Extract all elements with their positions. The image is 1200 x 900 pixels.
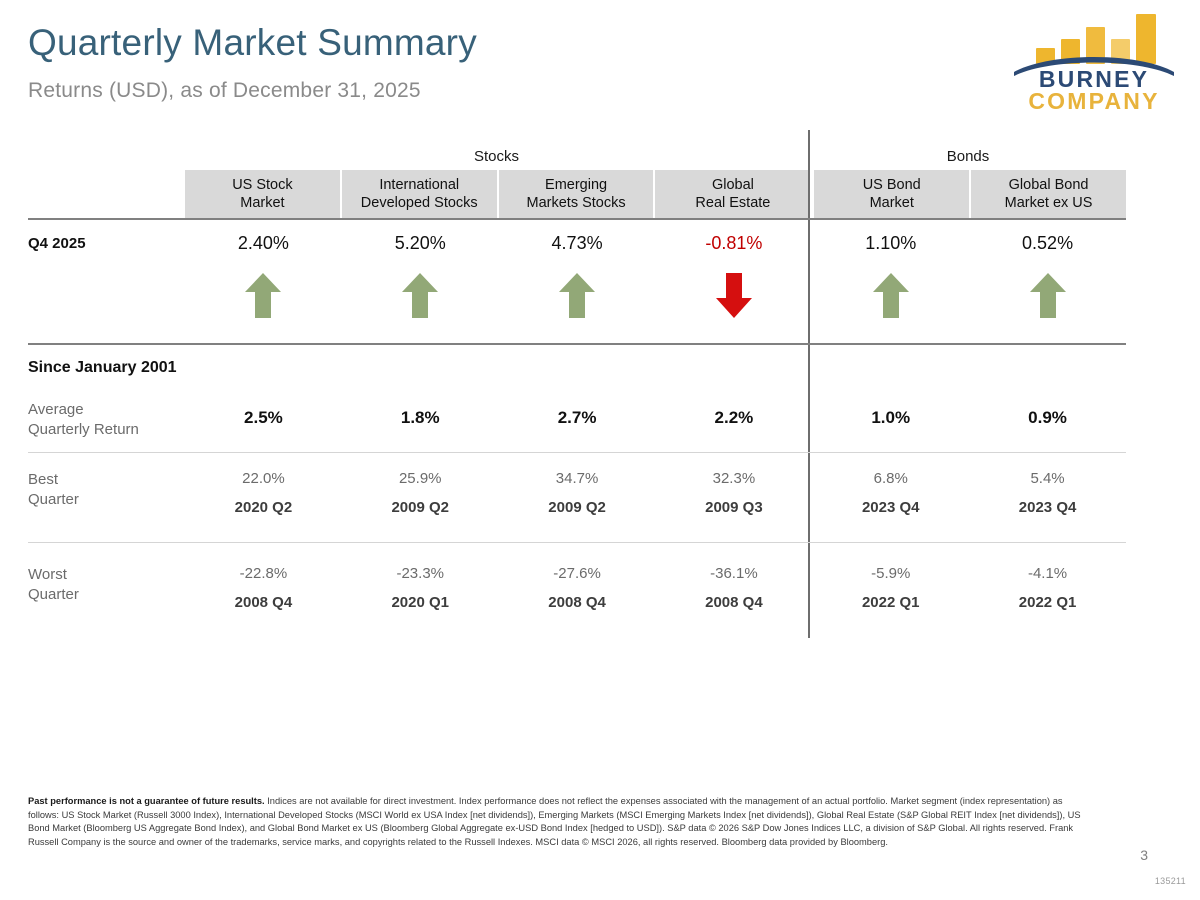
row-label-line-2: Quarterly Return [28,420,139,440]
table-cell: 1.8% [342,408,499,428]
column-header-emerging-markets-stocks: Emerging Markets Stocks [499,170,656,218]
column-header-us-stock-market: US Stock Market [185,170,342,218]
column-header-us-bond-market: US Bond Market [812,170,971,218]
arrow-up-icon [401,271,439,319]
row-label-line-2: Quarter [28,585,79,605]
header-line-1: US Bond [863,176,921,194]
column-header-global-real-estate: Global Real Estate [655,170,812,218]
q4-value-international-developed-stocks: 5.20% [395,233,446,254]
row-q4-2025: 2.40% 5.20% 4.73% -0.81% 1.10% [185,233,1126,319]
rule-under-header [28,218,1126,220]
market-summary-table: Stocks Bonds US Stock Market Internation… [0,130,1200,650]
table-cell: -4.1% 2022 Q1 [969,565,1126,611]
best-pct-global-real-estate: 32.3% [713,470,756,487]
group-label-stocks: Stocks [185,148,808,165]
row-label-line-2: Quarter [28,490,79,510]
best-quarter-global-bond-market-ex-us: 2023 Q4 [1019,499,1077,516]
best-pct-emerging-markets-stocks: 34.7% [556,470,599,487]
arrow-up-icon [244,271,282,319]
table-cell: 5.20% [342,233,499,319]
worst-pct-emerging-markets-stocks: -27.6% [553,565,601,582]
avg-value-emerging-markets-stocks: 2.7% [558,408,597,428]
arrow-up-icon [1029,271,1067,319]
header-line-2: Developed Stocks [361,194,478,212]
header-line-2: Market [870,194,914,212]
page-header: Quarterly Market Summary Returns (USD), … [0,0,1200,125]
table-cell: -36.1% 2008 Q4 [655,565,812,611]
avg-value-global-real-estate: 2.2% [715,408,754,428]
worst-quarter-us-stock-market: 2008 Q4 [235,594,293,611]
q4-value-emerging-markets-stocks: 4.73% [552,233,603,254]
worst-quarter-international-developed-stocks: 2020 Q1 [391,594,449,611]
q4-value-global-real-estate: -0.81% [705,233,762,254]
row-label-q4-2025: Q4 2025 [28,234,86,254]
row-label-line-1: Best [28,470,79,490]
best-pct-global-bond-market-ex-us: 5.4% [1030,470,1064,487]
row-label-line-1: Average [28,400,139,420]
best-pct-us-bond-market: 6.8% [874,470,908,487]
avg-value-us-stock-market: 2.5% [244,408,283,428]
table-cell: -22.8% 2008 Q4 [185,565,342,611]
table-cell: 25.9% 2009 Q2 [342,470,499,516]
avg-value-us-bond-market: 1.0% [871,408,910,428]
best-pct-us-stock-market: 22.0% [242,470,285,487]
table-cell: 0.9% [969,408,1126,428]
best-quarter-us-stock-market: 2020 Q2 [235,499,293,516]
header-line-1: US Stock [232,176,292,194]
best-quarter-international-developed-stocks: 2009 Q2 [391,499,449,516]
table-cell: 32.3% 2009 Q3 [655,470,812,516]
arrow-down-icon [715,271,753,319]
best-quarter-emerging-markets-stocks: 2009 Q2 [548,499,606,516]
worst-quarter-us-bond-market: 2022 Q1 [862,594,920,611]
column-header-international-developed-stocks: International Developed Stocks [342,170,499,218]
arrow-up-icon [558,271,596,319]
worst-quarter-global-real-estate: 2008 Q4 [705,594,763,611]
row-label-line-1: Worst [28,565,79,585]
q4-value-us-stock-market: 2.40% [238,233,289,254]
table-cell: -23.3% 2020 Q1 [342,565,499,611]
row-label-best-quarter: Best Quarter [28,470,79,510]
row-average-quarterly-return: 2.5% 1.8% 2.7% 2.2% 1.0% 0.9% [185,408,1126,428]
table-cell: 22.0% 2020 Q2 [185,470,342,516]
table-cell: -27.6% 2008 Q4 [499,565,656,611]
worst-pct-us-bond-market: -5.9% [871,565,910,582]
worst-pct-international-developed-stocks: -23.3% [396,565,444,582]
document-id: 135211 [1155,876,1186,886]
worst-pct-us-stock-market: -22.8% [240,565,288,582]
table-cell: 34.7% 2009 Q2 [499,470,656,516]
table-cell: 0.52% [969,233,1126,319]
table-cell: -0.81% [655,233,812,319]
page-subtitle: Returns (USD), as of December 31, 2025 [28,79,421,103]
q4-value-global-bond-market-ex-us: 0.52% [1022,233,1073,254]
burney-company-logo: BURNEY COMPANY [1010,8,1178,112]
avg-value-international-developed-stocks: 1.8% [401,408,440,428]
logo-subname: COMPANY [1010,88,1178,115]
section-heading-since-january-2001: Since January 2001 [28,358,177,378]
rule-above-best-quarter [28,452,1126,453]
table-cell: 2.40% [185,233,342,319]
header-line-2: Markets Stocks [527,194,626,212]
stocks-bonds-divider [808,130,810,638]
best-quarter-global-real-estate: 2009 Q3 [705,499,763,516]
arrow-up-icon [872,271,910,319]
table-cell: 2.2% [655,408,812,428]
table-cell: 6.8% 2023 Q4 [812,470,969,516]
rule-above-since-section [28,343,1126,345]
best-quarter-us-bond-market: 2023 Q4 [862,499,920,516]
header-line-1: Global [712,176,754,194]
group-label-bonds: Bonds [810,148,1126,165]
table-cell: 1.0% [812,408,969,428]
column-header-global-bond-market-ex-us: Global Bond Market ex US [971,170,1126,218]
header-line-1: International [379,176,459,194]
avg-value-global-bond-market-ex-us: 0.9% [1028,408,1067,428]
table-cell: -5.9% 2022 Q1 [812,565,969,611]
header-line-2: Market [240,194,284,212]
table-header-row: US Stock Market International Developed … [185,170,1126,218]
worst-pct-global-real-estate: -36.1% [710,565,758,582]
header-line-2: Market ex US [1005,194,1093,212]
q4-value-us-bond-market: 1.10% [865,233,916,254]
header-line-2: Real Estate [695,194,770,212]
row-best-quarter: 22.0% 2020 Q2 25.9% 2009 Q2 34.7% 2009 Q… [185,470,1126,516]
row-worst-quarter: -22.8% 2008 Q4 -23.3% 2020 Q1 -27.6% 200… [185,565,1126,611]
table-cell: 5.4% 2023 Q4 [969,470,1126,516]
best-pct-international-developed-stocks: 25.9% [399,470,442,487]
footnote-lead: Past performance is not a guarantee of f… [28,796,265,806]
page-number: 3 [1140,847,1148,863]
row-label-worst-quarter: Worst Quarter [28,565,79,605]
disclosure-footnote: Past performance is not a guarantee of f… [28,795,1088,849]
worst-quarter-emerging-markets-stocks: 2008 Q4 [548,594,606,611]
table-cell: 1.10% [812,233,969,319]
row-label-average-quarterly-return: Average Quarterly Return [28,400,139,440]
rule-above-worst-quarter [28,542,1126,543]
page-title: Quarterly Market Summary [28,22,477,64]
worst-pct-global-bond-market-ex-us: -4.1% [1028,565,1067,582]
header-line-1: Global Bond [1009,176,1089,194]
worst-quarter-global-bond-market-ex-us: 2022 Q1 [1019,594,1077,611]
table-cell: 2.7% [499,408,656,428]
table-cell: 4.73% [499,233,656,319]
header-line-1: Emerging [545,176,607,194]
table-cell: 2.5% [185,408,342,428]
